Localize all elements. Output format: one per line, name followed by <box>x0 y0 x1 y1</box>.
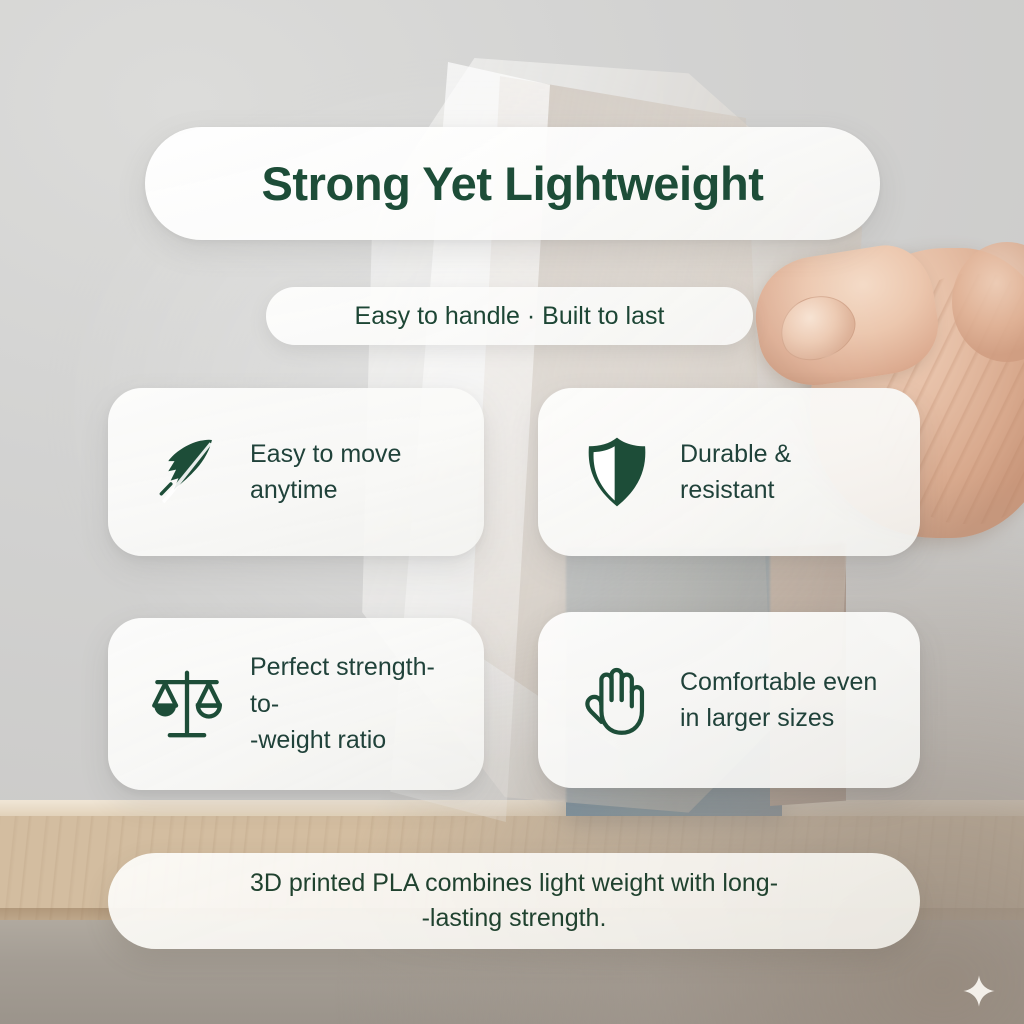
footer-banner: 3D printed PLA combines light weight wit… <box>108 853 920 949</box>
subtitle-banner: Easy to handle · Built to last <box>266 287 753 345</box>
footer-caption: 3D printed PLA combines light weight wit… <box>250 866 778 937</box>
page-title: Strong Yet Lightweight <box>261 156 763 211</box>
poster-canvas: Strong Yet Lightweight Easy to handle · … <box>0 0 1024 1024</box>
feature-card-label: Durable & resistant <box>680 436 791 509</box>
feature-card-label: Easy to move anytime <box>250 436 401 509</box>
feature-card-label: Perfect strength-to- -weight ratio <box>250 649 460 759</box>
content-overlay: Strong Yet Lightweight Easy to handle · … <box>0 0 1024 1024</box>
feature-card-label: Comfortable even in larger sizes <box>680 664 877 737</box>
page-subtitle: Easy to handle · Built to last <box>355 302 665 331</box>
feature-card-comfortable[interactable]: Comfortable even in larger sizes <box>538 612 920 788</box>
feature-card-easy-to-move[interactable]: Easy to move anytime <box>108 388 484 556</box>
sparkle-icon <box>962 974 996 1008</box>
feather-icon <box>148 432 226 512</box>
balance-scales-icon <box>148 664 226 744</box>
feature-card-durable[interactable]: Durable & resistant <box>538 388 920 556</box>
shield-icon <box>578 432 656 512</box>
hand-icon <box>578 660 656 740</box>
title-banner: Strong Yet Lightweight <box>145 127 880 240</box>
feature-card-strength-to-weight[interactable]: Perfect strength-to- -weight ratio <box>108 618 484 790</box>
